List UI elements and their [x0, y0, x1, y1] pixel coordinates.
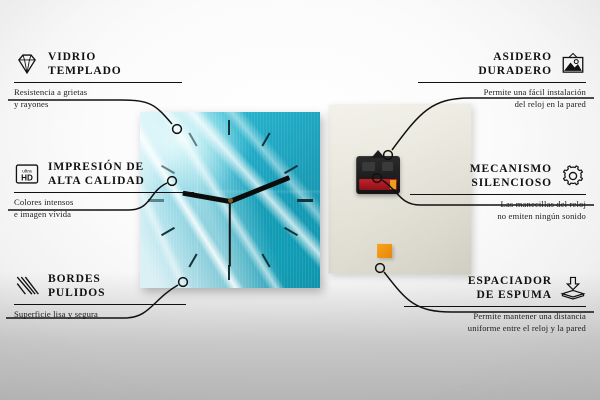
polished-edges-icon: [14, 274, 40, 298]
feature-divider: [14, 192, 194, 193]
feature-description: Permite una fácil instalación del reloj …: [418, 87, 586, 110]
feature-header: MECANISMO SILENCIOSO: [410, 162, 586, 190]
feature-title-line2: DE ESPUMA: [476, 289, 552, 301]
feature-divider: [418, 82, 586, 83]
feature-espaciador-de-espuma[interactable]: ESPACIADOR DE ESPUMA Permite mantener un…: [404, 274, 586, 334]
hour-tick: [188, 133, 197, 147]
feature-description: Colores intensos e imagen vívida: [14, 197, 194, 220]
hour-tick: [284, 165, 298, 174]
feature-title-line2: DURADERO: [478, 65, 552, 77]
feature-divider: [14, 304, 186, 305]
feature-mecanismo-silencioso[interactable]: MECANISMO SILENCIOSO Las manecillas del …: [410, 162, 586, 222]
feature-header: VIDRIO TEMPLADO: [14, 50, 182, 78]
clock-mechanism: [356, 156, 400, 194]
feature-desc-line1: Permite una fácil instalación: [484, 87, 586, 97]
feature-title-line1: IMPRESIÓN DE: [48, 161, 144, 173]
feature-desc-line2: e imagen vívida: [14, 209, 71, 219]
feature-divider: [410, 194, 586, 195]
foam-spacer-pad: [377, 244, 392, 258]
feature-desc-line1: Permite mantener una distancia: [473, 311, 586, 321]
ultra-hd-bottom-label: HD: [21, 174, 33, 183]
feature-divider: [14, 82, 182, 83]
feature-title-line2: PULIDOS: [48, 287, 105, 299]
mechanism-slot-right: [382, 162, 393, 171]
feature-divider: [404, 306, 586, 307]
feature-title-line2: TEMPLADO: [48, 65, 122, 77]
hour-tick: [261, 254, 270, 268]
feature-desc-line1: Superficie lisa y segura: [14, 309, 98, 319]
feature-desc-line2: uniforme entre el reloj y la pared: [468, 323, 586, 333]
feature-header: ASIDERO DURADERO: [418, 50, 586, 78]
feature-title-line2: ALTA CALIDAD: [48, 175, 145, 187]
feature-header: BORDES PULIDOS: [14, 272, 186, 300]
feature-desc-line1: Resistencia a grietas: [14, 87, 87, 97]
feature-desc-line1: Colores intensos: [14, 197, 73, 207]
feature-title: VIDRIO TEMPLADO: [48, 50, 122, 78]
feature-description: Permite mantener una distancia uniforme …: [404, 311, 586, 334]
clock-hub: [228, 198, 233, 203]
feature-title: IMPRESIÓN DE ALTA CALIDAD: [48, 160, 145, 188]
second-hand: [229, 201, 231, 267]
feature-title: MECANISMO SILENCIOSO: [470, 162, 552, 190]
hour-tick: [297, 199, 313, 202]
feature-vidrio-templado[interactable]: VIDRIO TEMPLADO Resistencia a grietas y …: [14, 50, 182, 110]
feature-desc-line2: no emiten ningún sonido: [497, 211, 586, 221]
ultra-hd-icon: ultra HD: [14, 162, 40, 186]
mechanism-slot-left: [362, 162, 375, 171]
feature-description: Resistencia a grietas y rayones: [14, 87, 182, 110]
gear-icon: [560, 164, 586, 188]
feature-title-line2: SILENCIOSO: [471, 177, 552, 189]
minute-hand: [229, 175, 290, 204]
feature-title-line1: VIDRIO: [48, 51, 96, 63]
hour-tick: [188, 254, 197, 268]
hour-tick: [284, 227, 298, 236]
feature-impresion-alta-calidad[interactable]: ultra HD IMPRESIÓN DE ALTA CALIDAD Color…: [14, 160, 194, 220]
feature-description: Superficie lisa y segura: [14, 309, 186, 321]
feature-header: ultra HD IMPRESIÓN DE ALTA CALIDAD: [14, 160, 194, 188]
mechanism-hanger-tab: [371, 150, 385, 158]
feature-title-line1: ESPACIADOR: [468, 275, 552, 287]
feature-title: ASIDERO DURADERO: [478, 50, 552, 78]
feature-bordes-pulidos[interactable]: BORDES PULIDOS Superficie lisa y segura: [14, 272, 186, 321]
diamond-icon: [14, 52, 40, 76]
battery: [359, 179, 397, 190]
feature-title-line1: ASIDERO: [493, 51, 552, 63]
feature-description: Las manecillas del reloj no emiten ningú…: [410, 199, 586, 222]
foam-spacer-icon: [560, 276, 586, 300]
hour-tick: [228, 120, 230, 135]
feature-desc-line2: del reloj en la pared: [515, 99, 586, 109]
feature-header: ESPACIADOR DE ESPUMA: [404, 274, 586, 302]
hour-tick: [261, 133, 270, 147]
feature-title-line1: MECANISMO: [470, 163, 552, 175]
hour-tick: [161, 227, 175, 236]
feature-title: ESPACIADOR DE ESPUMA: [468, 274, 552, 302]
picture-hanger-icon: [560, 52, 586, 76]
feature-desc-line2: y rayones: [14, 99, 49, 109]
feature-title: BORDES PULIDOS: [48, 272, 105, 300]
feature-title-line1: BORDES: [48, 273, 101, 285]
feature-desc-line1: Las manecillas del reloj: [501, 199, 586, 209]
feature-asidero-duradero[interactable]: ASIDERO DURADERO Permite una fácil insta…: [418, 50, 586, 110]
hour-tick: [228, 265, 230, 280]
